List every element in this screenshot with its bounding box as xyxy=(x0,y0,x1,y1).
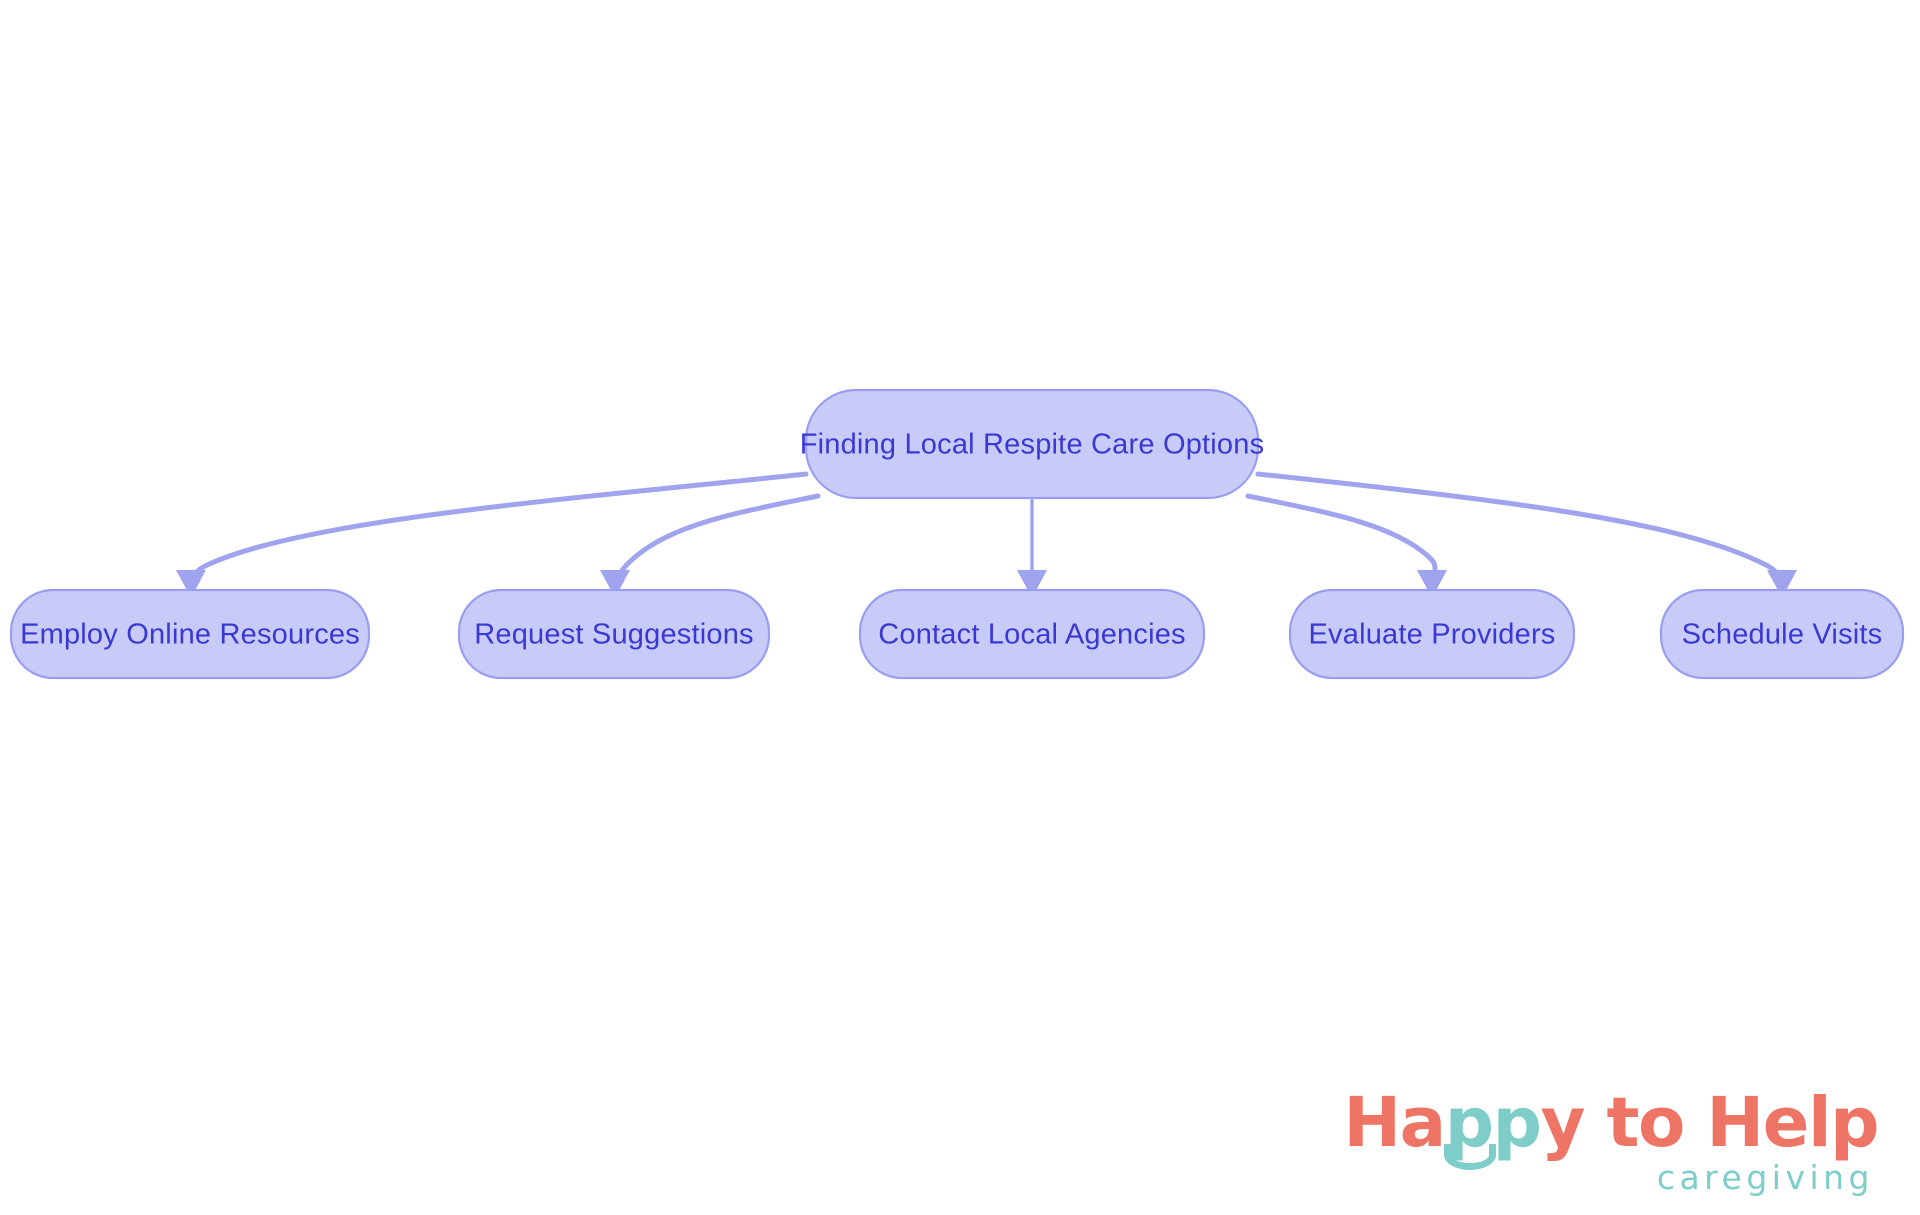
node-finding-local-respite-care-options[interactable]: Finding Local Respite Care Options xyxy=(800,390,1265,498)
flowchart-svg: Finding Local Respite Care Options Emplo… xyxy=(0,0,1920,1215)
node-label: Request Suggestions xyxy=(474,619,753,651)
flowchart-canvas: Finding Local Respite Care Options Emplo… xyxy=(0,0,1920,1215)
edge-root-to-request-suggestions xyxy=(600,496,818,598)
edge-root-to-evaluate-providers xyxy=(1248,496,1447,598)
node-contact-local-agencies[interactable]: Contact Local Agencies xyxy=(860,590,1204,678)
node-label: Finding Local Respite Care Options xyxy=(800,429,1265,461)
edge-line xyxy=(1258,474,1782,586)
node-layer: Finding Local Respite Care Options Emplo… xyxy=(11,390,1903,678)
node-label: Contact Local Agencies xyxy=(878,619,1185,651)
edge-root-to-schedule-visits xyxy=(1258,474,1797,598)
node-label: Evaluate Providers xyxy=(1309,619,1556,651)
node-schedule-visits[interactable]: Schedule Visits xyxy=(1661,590,1903,678)
node-label: Employ Online Resources xyxy=(20,619,360,651)
brand-logo: Happy to Help caregiving xyxy=(1343,1090,1878,1197)
node-request-suggestions[interactable]: Request Suggestions xyxy=(459,590,769,678)
edge-root-to-employ-online-resources xyxy=(176,474,806,598)
edge-line xyxy=(1248,496,1435,586)
logo-text-ha: Ha xyxy=(1343,1083,1444,1163)
logo-text-p: p xyxy=(1830,1083,1878,1163)
edge-line xyxy=(191,474,806,586)
edge-line xyxy=(615,496,818,586)
edge-root-to-contact-local-agencies xyxy=(1017,500,1047,598)
logo-text-y-to-hel: y to Hel xyxy=(1540,1083,1830,1163)
logo-wordmark: Happy to Help xyxy=(1343,1090,1878,1156)
node-employ-online-resources[interactable]: Employ Online Resources xyxy=(11,590,369,678)
logo-tagline: caregiving xyxy=(1343,1158,1874,1197)
node-evaluate-providers[interactable]: Evaluate Providers xyxy=(1290,590,1574,678)
node-label: Schedule Visits xyxy=(1682,619,1883,651)
